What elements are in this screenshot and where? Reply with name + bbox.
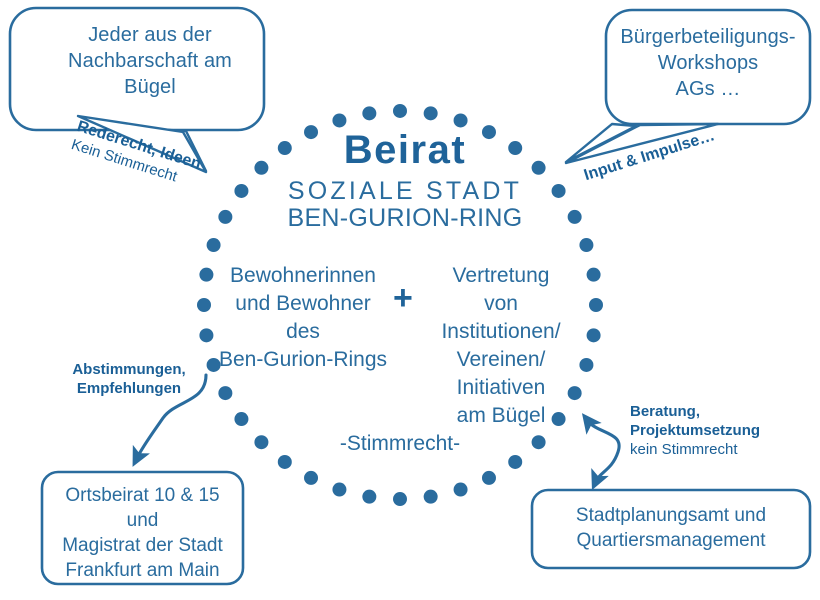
ring-dot [454, 113, 468, 127]
bubble-top-right-line-3: AGs … [606, 76, 810, 102]
box-bottom-right-line-2: Quartiersmanagement [532, 528, 810, 553]
bubble-top-left-text: Jeder aus der Nachbarschaft am Bügel [36, 22, 264, 100]
ring-dot [218, 386, 232, 400]
center-footer-stimmrecht: -Stimmrecht- [300, 432, 500, 456]
ring-dot [234, 184, 248, 198]
box-bottom-right-text: Stadtplanungsamt und Quartiersmanagement [532, 503, 810, 553]
center-left-line-4: Ben-Gurion-Rings [212, 346, 394, 374]
ring-dot [254, 435, 268, 449]
center-left-line-2: und Bewohner [212, 290, 394, 318]
center-right-line-5: Initiativen [428, 374, 574, 402]
annotation-abstimmungen: Abstimmungen, Empfehlungen [44, 360, 214, 398]
center-right-line-4: Vereinen/ [428, 346, 574, 374]
annotation-beratung-line-2: Projektumsetzung [630, 421, 810, 440]
annotation-abstimmungen-line-1: Abstimmungen, [44, 360, 214, 379]
box-bottom-left-line-3: Magistrat der Stadt [42, 533, 243, 558]
center-right-line-1: Vertretung [428, 262, 574, 290]
annotation-beratung-line-3: kein Stimmrecht [630, 440, 810, 459]
ring-dot [579, 238, 593, 252]
ring-dot [568, 210, 582, 224]
ring-dot [589, 298, 603, 312]
ring-dot [532, 435, 546, 449]
diagram-canvas: Jeder aus der Nachbarschaft am Bügel Red… [0, 0, 820, 600]
ring-dot [579, 358, 593, 372]
center-title: Beirat [260, 128, 550, 173]
ring-dot [218, 210, 232, 224]
annotation-abstimmungen-line-2: Empfehlungen [44, 379, 214, 398]
annotation-beratung-line-1: Beratung, [630, 402, 810, 421]
bubble-top-left-line-3: Bügel [36, 74, 264, 100]
ring-dot [362, 490, 376, 504]
center-left-line-3: des [212, 318, 394, 346]
box-bottom-left-line-4: Frankfurt am Main [42, 558, 243, 583]
ring-dot [482, 471, 496, 485]
ring-dot [304, 471, 318, 485]
bubble-top-left-line-1: Jeder aus der [36, 22, 264, 48]
center-right-line-3: Institutionen/ [428, 318, 574, 346]
ring-dot [587, 268, 601, 282]
center-left-column: Bewohnerinnen und Bewohner des Ben-Gurio… [212, 262, 394, 374]
ring-dot [424, 106, 438, 120]
ring-dot [234, 412, 248, 426]
center-right-line-6: am Bügel [428, 402, 574, 430]
bubble-top-right-line-2: Workshops [606, 50, 810, 76]
box-bottom-right-line-1: Stadtplanungsamt und [532, 503, 810, 528]
ring-dot [332, 483, 346, 497]
box-bottom-left-text: Ortsbeirat 10 & 15 und Magistrat der Sta… [42, 483, 243, 583]
annotation-beratung: Beratung, Projektumsetzung kein Stimmrec… [630, 402, 810, 460]
arrow-stadtplanungsamt-bidirectional [588, 421, 619, 481]
center-left-line-1: Bewohnerinnen [212, 262, 394, 290]
ring-dot [332, 113, 346, 127]
plus-icon: + [393, 281, 413, 315]
ring-dot [393, 492, 407, 506]
bubble-top-right-text: Bürgerbeteiligungs- Workshops AGs … [606, 24, 810, 102]
bubble-top-right-line-1: Bürgerbeteiligungs- [606, 24, 810, 50]
center-subtitle-2: BEN-GURION-RING [260, 204, 550, 233]
ring-dot [587, 328, 601, 342]
bubble-top-left-line-2: Nachbarschaft am [36, 48, 264, 74]
ring-dot [393, 104, 407, 118]
ring-dot [552, 184, 566, 198]
ring-dot [454, 483, 468, 497]
box-bottom-left-line-1: Ortsbeirat 10 & 15 [42, 483, 243, 508]
ring-dot [424, 490, 438, 504]
ring-dot [207, 238, 221, 252]
center-right-column: Vertretung von Institutionen/ Vereinen/ … [428, 262, 574, 430]
ring-dot [197, 298, 211, 312]
ring-dot [508, 455, 522, 469]
ring-dot [362, 106, 376, 120]
center-subtitle-1: SOZIALE STADT [260, 177, 550, 206]
ring-dot [278, 455, 292, 469]
center-right-line-2: von [428, 290, 574, 318]
box-bottom-left-line-2: und [42, 508, 243, 533]
